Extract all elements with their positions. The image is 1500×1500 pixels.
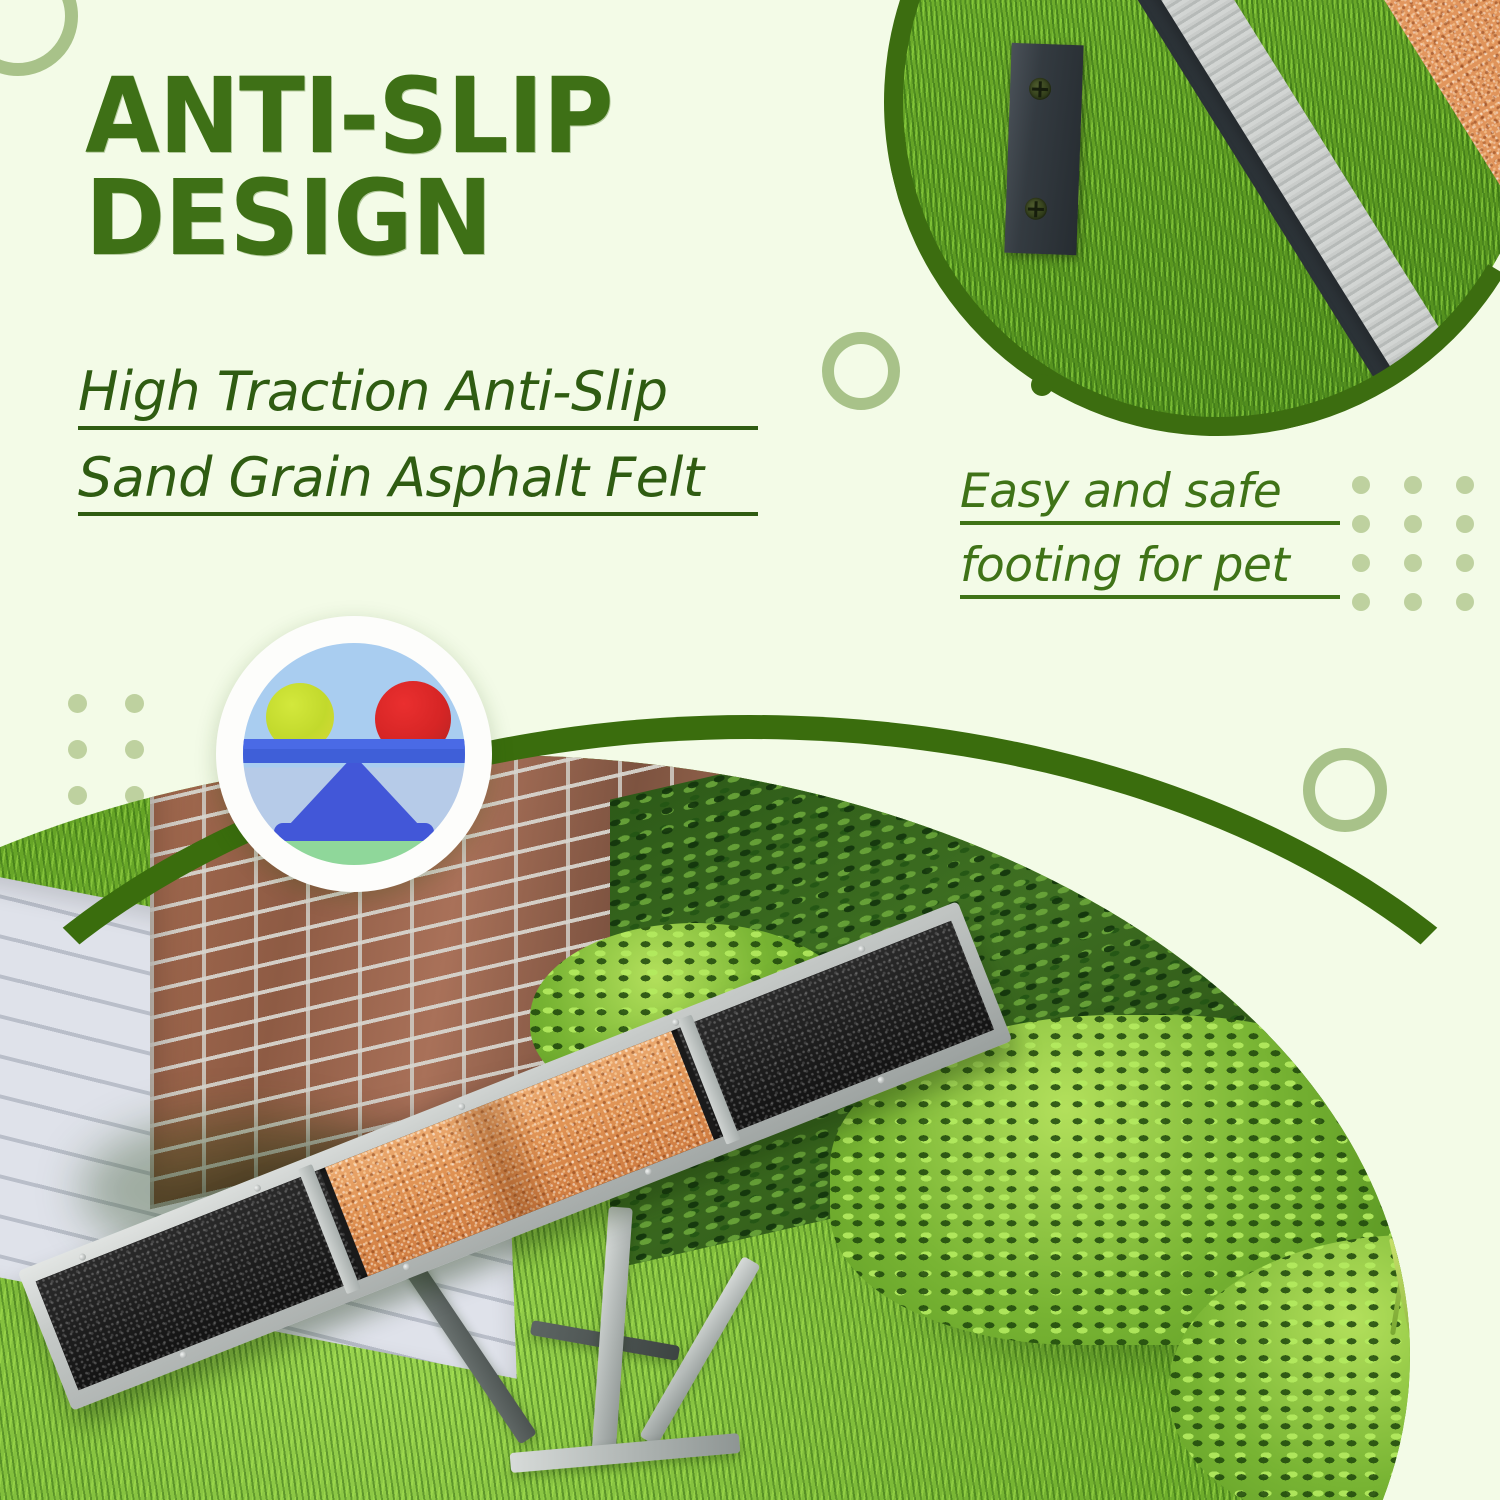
plank-inner-panel <box>36 921 994 1390</box>
balance-beam-icon <box>243 739 465 763</box>
feature-caption: Easy and safe footing for pet <box>960 468 1340 616</box>
dot-icon <box>1456 476 1474 494</box>
headline-line-2: DESIGN <box>85 168 792 270</box>
feature-caption-line-1: Easy and safe <box>960 468 1340 525</box>
dot-icon <box>68 786 87 805</box>
subheading-line-2: Sand Grain Asphalt Felt <box>78 451 758 516</box>
decorative-ring-icon <box>0 0 78 76</box>
balance-badge <box>216 616 492 892</box>
dot-icon <box>1352 476 1370 494</box>
balance-seesaw-icon <box>243 643 465 865</box>
hero-photo-seesaw-in-garden <box>0 715 1500 1500</box>
dot-icon <box>1352 593 1370 611</box>
fulcrum-base-icon <box>274 823 434 841</box>
sand-grain-asphalt-felt-panel <box>325 1031 714 1276</box>
dot-icon <box>68 694 87 713</box>
dot-icon <box>1404 593 1422 611</box>
dot-icon <box>125 694 144 713</box>
dot-icon <box>1352 515 1370 533</box>
headline-line-1: ANTI-SLIP <box>85 66 792 168</box>
dot-icon <box>1456 554 1474 572</box>
dot-icon <box>1456 593 1474 611</box>
fulcrum-leg-left <box>403 1259 537 1444</box>
subheading: High Traction Anti-Slip Sand Grain Aspha… <box>78 365 758 537</box>
inset-photo-arc-cap <box>1031 374 1053 396</box>
decorative-ring-icon <box>822 332 900 410</box>
dot-grid-right <box>1352 476 1500 632</box>
page-title: ANTI-SLIP DESIGN <box>85 66 792 270</box>
fulcrum-foot <box>510 1433 741 1473</box>
dot-icon <box>125 740 144 759</box>
dot-icon <box>1404 554 1422 572</box>
dot-icon <box>1352 554 1370 572</box>
dot-icon <box>1456 515 1474 533</box>
product-seesaw <box>0 895 1050 1495</box>
poster-canvas: ANTI-SLIP DESIGN High Traction Anti-Slip… <box>0 0 1500 1500</box>
dot-icon <box>68 740 87 759</box>
feature-caption-line-2: footing for pet <box>960 542 1340 599</box>
seesaw-plank <box>18 901 1013 1411</box>
dot-icon <box>1404 515 1422 533</box>
dot-icon <box>1404 476 1422 494</box>
subheading-line-1: High Traction Anti-Slip <box>78 365 758 430</box>
decorative-ring-icon <box>1303 748 1387 832</box>
